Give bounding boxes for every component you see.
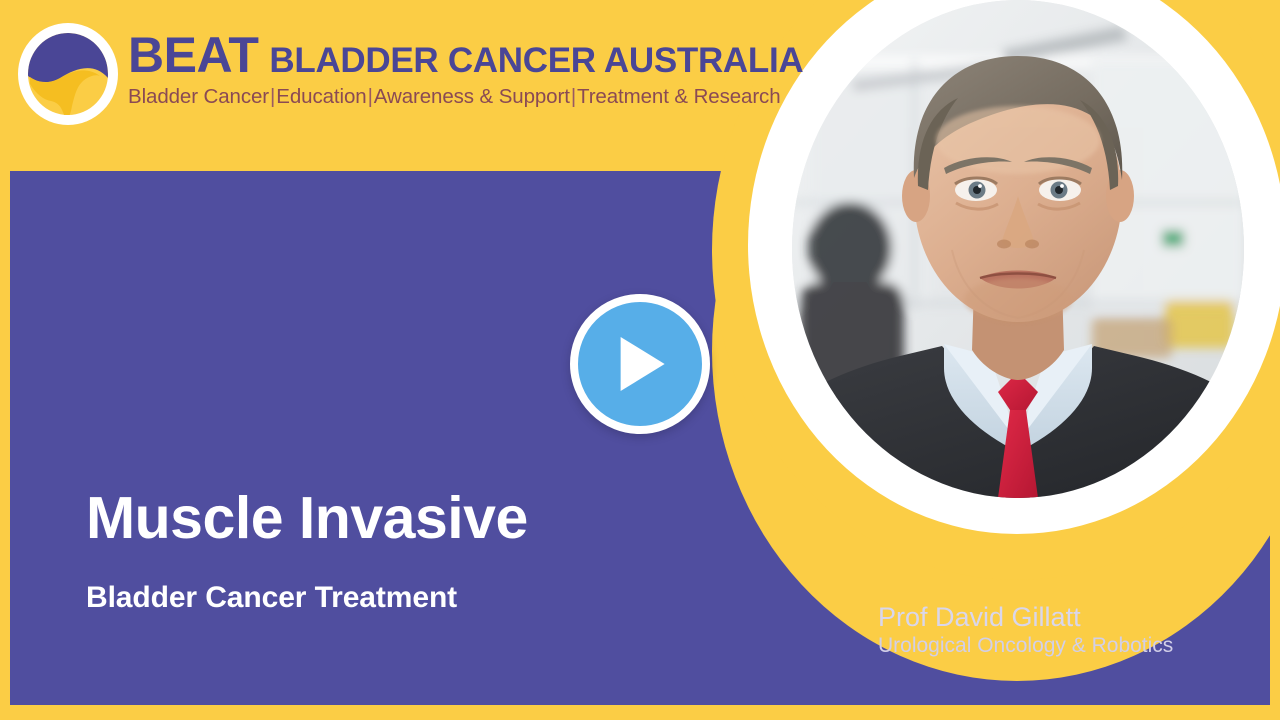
tagline-separator-3: |	[570, 85, 577, 108]
tagline-part-1: Bladder Cancer	[128, 85, 269, 108]
brand-name-line: BEATBLADDER CANCER AUSTRALIA	[128, 30, 818, 80]
tagline-part-4: Treatment & Research	[577, 85, 780, 108]
presenter-name: Prof David Gillatt	[878, 602, 1173, 633]
tagline-part-2: Education	[276, 85, 366, 108]
brand-header: BEATBLADDER CANCER AUSTRALIA Bladder Can…	[0, 0, 820, 150]
beat-bladder-cancer-australia-logo-icon	[16, 22, 120, 126]
brand-word-rest: BLADDER CANCER AUSTRALIA	[269, 41, 803, 80]
brand-word-beat: BEAT	[128, 27, 258, 83]
play-button[interactable]	[570, 294, 710, 434]
tagline-separator-2: |	[367, 85, 374, 108]
video-thumbnail-slide: BEATBLADDER CANCER AUSTRALIA Bladder Can…	[0, 0, 1280, 720]
page-subtitle: Bladder Cancer Treatment	[86, 581, 528, 615]
slide-title-block: Muscle Invasive Bladder Cancer Treatment	[86, 488, 528, 615]
tagline-part-3: Awareness & Support	[374, 85, 570, 108]
play-triangle-icon	[621, 337, 665, 391]
brand-tagline: Bladder Cancer|Education|Awareness & Sup…	[128, 85, 818, 109]
page-title: Muscle Invasive	[86, 488, 528, 550]
presenter-photo	[792, 0, 1244, 498]
presenter-credit: Prof David Gillatt Urological Oncology &…	[878, 602, 1173, 658]
brand-wordmark: BEATBLADDER CANCER AUSTRALIA Bladder Can…	[128, 30, 818, 109]
presenter-role: Urological Oncology & Robotics	[878, 633, 1173, 658]
presenter-portrait-avatar	[792, 0, 1244, 498]
